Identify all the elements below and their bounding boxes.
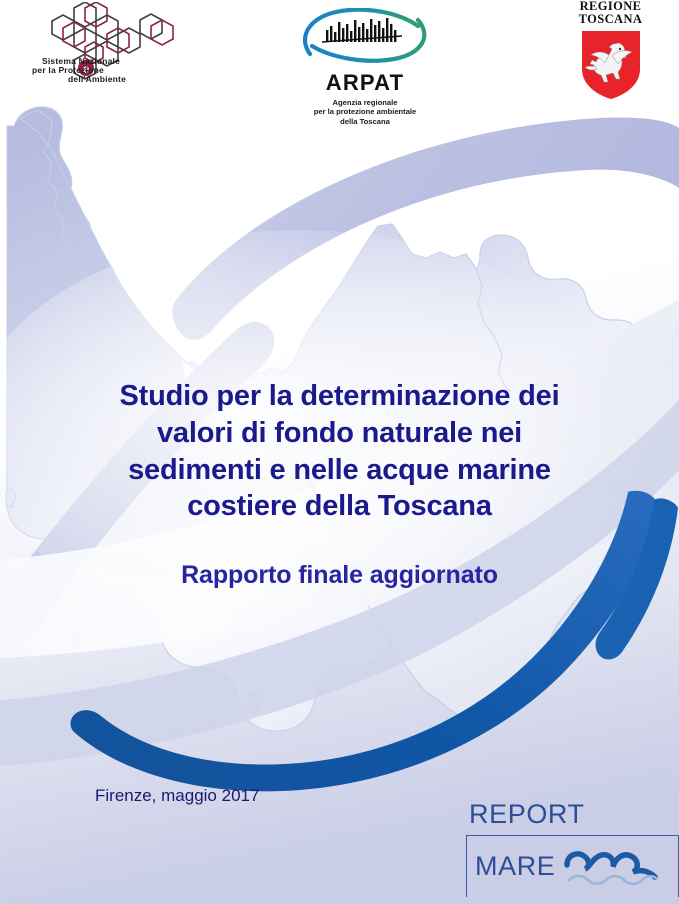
title-line-4: costiere della Toscana	[58, 488, 621, 525]
arpat-logo: ARPAT Agenzia regionale per la protezion…	[285, 8, 445, 113]
wave-dark	[567, 853, 655, 876]
title-line-2: valori di fondo naturale nei	[58, 415, 621, 452]
regione-toscana-logo: REGIONE TOSCANA	[558, 0, 663, 100]
page-title: Studio per la determinazione dei valori …	[0, 378, 679, 525]
rt-line-2: TOSCANA	[558, 13, 663, 26]
hexagon-molecule-icon: e	[28, 2, 208, 102]
swoosh-cityscape-icon	[290, 8, 440, 64]
arpat-subtitle-line-3: della Toscana	[285, 117, 445, 126]
mare-box: MARE	[466, 835, 679, 897]
header-logo-band: e Sistema Nazionale per la Protezione de…	[0, 0, 679, 115]
place-and-date: Firenze, maggio 2017	[95, 786, 259, 806]
snpa-line-3: dell'Ambiente	[28, 75, 208, 84]
report-cover-page: e Sistema Nazionale per la Protezione de…	[0, 0, 679, 904]
arpat-subtitle-line-2: per la protezione ambientale	[285, 107, 445, 116]
title-block: Studio per la determinazione dei valori …	[0, 378, 679, 590]
page-subtitle: Rapporto finale aggiornato	[0, 561, 679, 590]
arpat-arc-top	[305, 10, 418, 54]
arpat-subtitle-line-1: Agenzia regionale	[285, 98, 445, 107]
report-mare-badge: REPORT MARE	[466, 801, 679, 897]
report-label: REPORT	[466, 801, 679, 828]
wave-light	[569, 875, 656, 883]
mare-label: MARE	[475, 853, 555, 880]
title-line-3: sedimenti e nelle acque marine	[58, 452, 621, 489]
arpat-subtitle: Agenzia regionale per la protezione ambi…	[285, 98, 445, 126]
pegasus-shield-icon	[579, 29, 643, 101]
arpat-wordmark: ARPAT	[285, 70, 445, 96]
snpa-wordmark: Sistema Nazionale per la Protezione dell…	[28, 57, 208, 85]
title-line-1: Studio per la determinazione dei	[58, 378, 621, 415]
sea-waves-icon	[563, 847, 659, 891]
arpat-skyline	[322, 18, 402, 42]
regione-toscana-wordmark: REGIONE TOSCANA	[558, 0, 663, 26]
